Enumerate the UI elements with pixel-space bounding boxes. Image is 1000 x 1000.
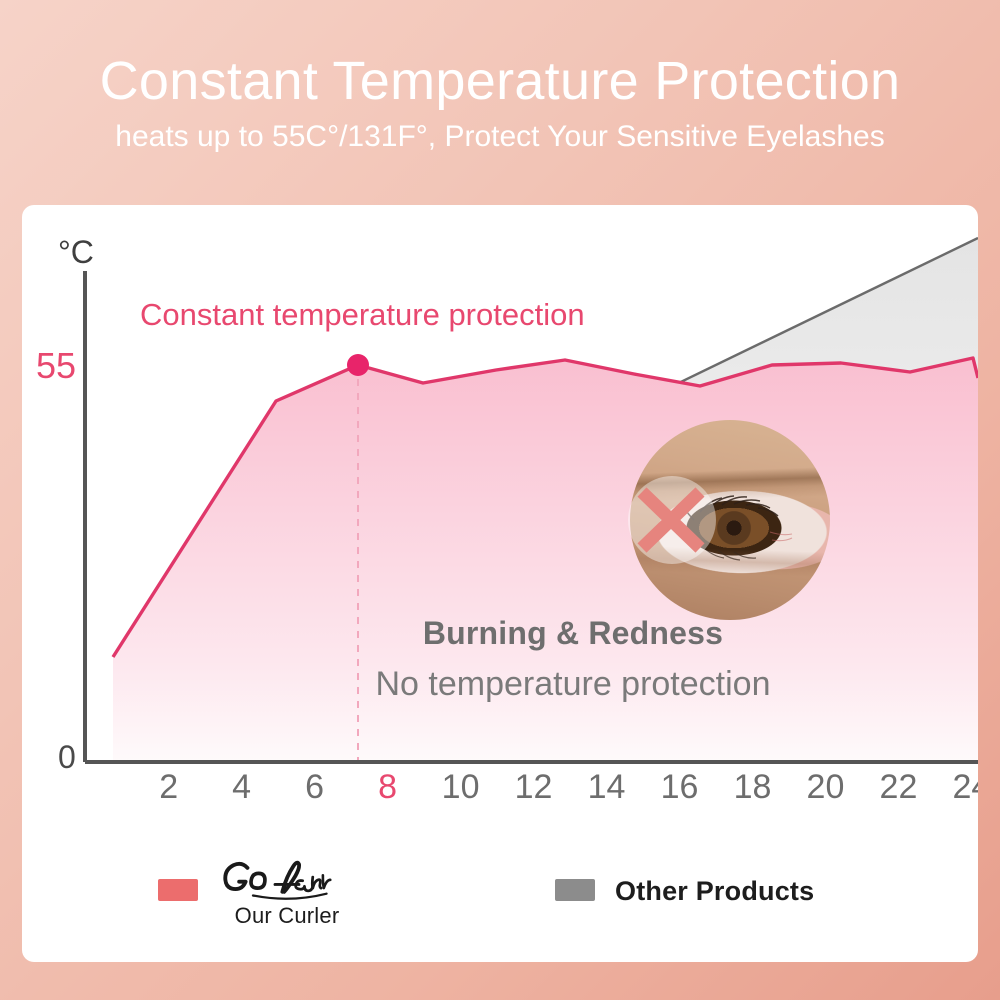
peak-marker-dot [347,354,369,376]
legend-sublabel-our-curler: Our Curler [218,903,356,929]
x-tick-22: 22 [880,768,918,807]
page-subtitle: heats up to 55C°/131F°, Protect Your Sen… [115,120,884,154]
x-tick-6: 6 [305,768,324,807]
x-mark-badge [622,470,722,570]
x-tick-10: 10 [442,768,480,807]
legend-swatch-other-products [555,879,595,901]
header-banner: Constant Temperature Protection heats up… [0,0,1000,205]
chart-legend: Our Curler Other Products [22,855,978,955]
chart-card: °C 55 0 2 4 6 8 10 12 14 16 18 20 22 24 … [22,205,978,962]
legend-text-other-products: Other Products [615,855,814,907]
y-axis-tick-0: 0 [58,739,76,776]
page-title: Constant Temperature Protection [100,52,901,110]
legend-text-our-curler: Our Curler [218,855,356,929]
y-axis-tick-55: 55 [36,345,76,387]
legend-item-our-curler[interactable]: Our Curler [158,855,356,929]
x-tick-14: 14 [588,768,626,807]
annotation-constant-protection: Constant temperature protection [140,297,585,333]
x-tick-8: 8 [378,768,397,807]
annotation-burning-redness: Burning & Redness [22,615,978,652]
y-axis-unit-label: °C [58,234,94,271]
x-tick-20: 20 [807,768,845,807]
x-tick-18: 18 [734,768,772,807]
legend-label-other-products: Other Products [615,876,814,907]
legend-item-other-products[interactable]: Other Products [555,855,814,907]
x-tick-24: 24 [953,768,978,807]
x-tick-2: 2 [159,768,178,807]
x-tick-12: 12 [515,768,553,807]
x-axis-tick-labels: 2 4 6 8 10 12 14 16 18 20 22 24 [85,768,975,818]
legend-swatch-our-curler [158,879,198,901]
annotation-no-temperature-protection: No temperature protection [22,665,978,704]
eye-photo-callout [630,420,830,620]
x-tick-16: 16 [661,768,699,807]
x-tick-4: 4 [232,768,251,807]
go-lash-logo [218,855,356,901]
x-mark-disc [628,476,716,564]
